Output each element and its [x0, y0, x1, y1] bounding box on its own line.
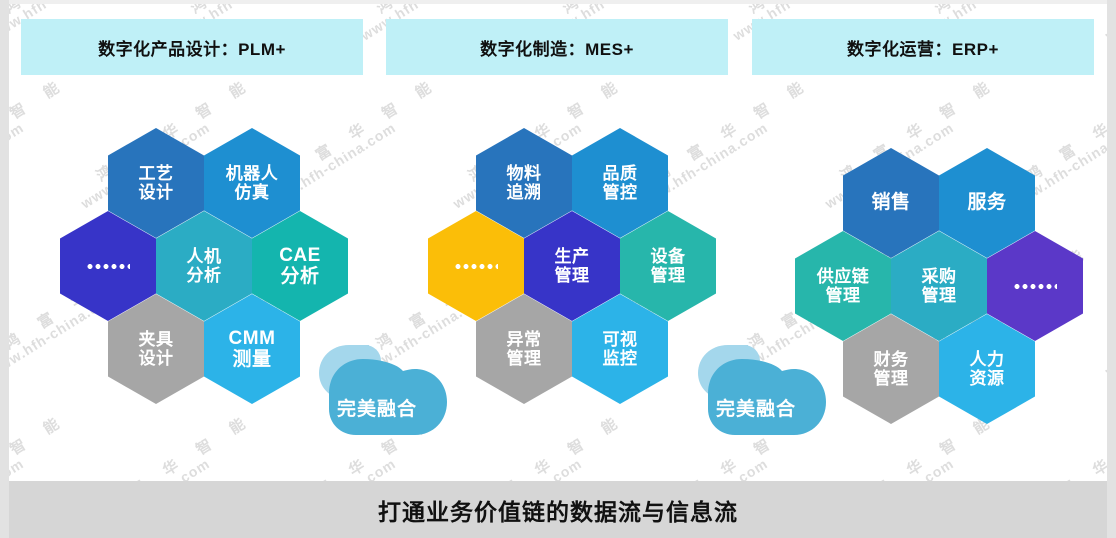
- hex-label: [82, 264, 134, 269]
- hex-label: 人机分析: [183, 247, 226, 285]
- hex-label: 物料追溯: [503, 164, 546, 202]
- hex-label: [1009, 284, 1061, 289]
- cloud-fusion-1[interactable]: 完美融合: [297, 331, 457, 441]
- header-erp-label: 数字化运营：ERP+: [847, 35, 999, 60]
- watermark-text-url: www.hfh-china.com: [1102, 287, 1116, 379]
- watermark-text-cn: 鸿 富 华 智 能: [372, 0, 537, 18]
- watermark-text-url: www.hfh-china.com: [0, 119, 27, 211]
- cloud-icon: [297, 331, 457, 441]
- hex-label: 财务管理: [870, 350, 913, 388]
- bottom-banner: 打通业务价值链的数据流与信息流: [9, 481, 1107, 538]
- header-plm-label: 数字化产品设计：PLM+: [98, 35, 286, 60]
- hex-cluster-mes: 物料追溯 品质管控 生产管理 设备管理 异常管理 可视监控: [428, 128, 718, 378]
- header-erp: 数字化运营：ERP+: [752, 19, 1094, 75]
- hex-label: 工艺设计: [135, 164, 178, 202]
- watermark-text-url: www.hfh-china.com: [1102, 0, 1116, 44]
- hex-label: 供应链管理: [813, 267, 874, 305]
- cloud-label: 完美融合: [676, 394, 836, 421]
- hex-label: 设备管理: [647, 247, 690, 285]
- hex-label: [450, 264, 502, 269]
- cloud-icon: [676, 331, 836, 441]
- header-mes: 数字化制造：MES+: [386, 19, 728, 75]
- hex-label: 机器人仿真: [222, 164, 283, 202]
- hex-label: 夹具设计: [135, 330, 178, 368]
- watermark-text-cn: 鸿 富 华 智 能: [186, 0, 351, 18]
- header-mes-label: 数字化制造：MES+: [480, 35, 634, 60]
- hex-label: 生产管理: [551, 247, 594, 285]
- bottom-banner-label: 打通业务价值链的数据流与信息流: [378, 493, 738, 527]
- hex-label: 品质管控: [599, 164, 642, 202]
- watermark-text-cn: 鸿 富 华 智 能: [558, 0, 723, 18]
- hex-label: CAE分析: [275, 245, 325, 288]
- header-plm: 数字化产品设计：PLM+: [21, 19, 363, 75]
- hex-label: 异常管理: [503, 330, 546, 368]
- hex-label: 服务: [963, 192, 1010, 213]
- cloud-fusion-2[interactable]: 完美融合: [676, 331, 836, 441]
- page-frame-right: [1107, 0, 1116, 538]
- cloud-label: 完美融合: [297, 394, 457, 421]
- page-frame-left: [0, 0, 9, 538]
- hex-label: 销售: [867, 192, 914, 213]
- page-frame-top: [0, 0, 1116, 4]
- hex-label: 人力资源: [966, 350, 1009, 388]
- hex-label: 采购管理: [918, 267, 961, 305]
- hex-cluster-erp: 销售 服务 供应链管理 采购管理 财务管理 人力资源: [795, 148, 1085, 398]
- watermark-text-cn: 鸿 富 华 智 能: [0, 0, 165, 18]
- watermark-text-cn: 鸿 富 华 智 能: [930, 0, 1095, 18]
- hex-label: 可视监控: [599, 330, 642, 368]
- hex-label: CMM测量: [225, 328, 280, 371]
- slide-canvas: 鸿 富 华 智 能www.hfh-china.com鸿 富 华 智 能www.h…: [0, 0, 1116, 538]
- watermark-text-cn: 鸿 富 华 智 能: [744, 0, 909, 18]
